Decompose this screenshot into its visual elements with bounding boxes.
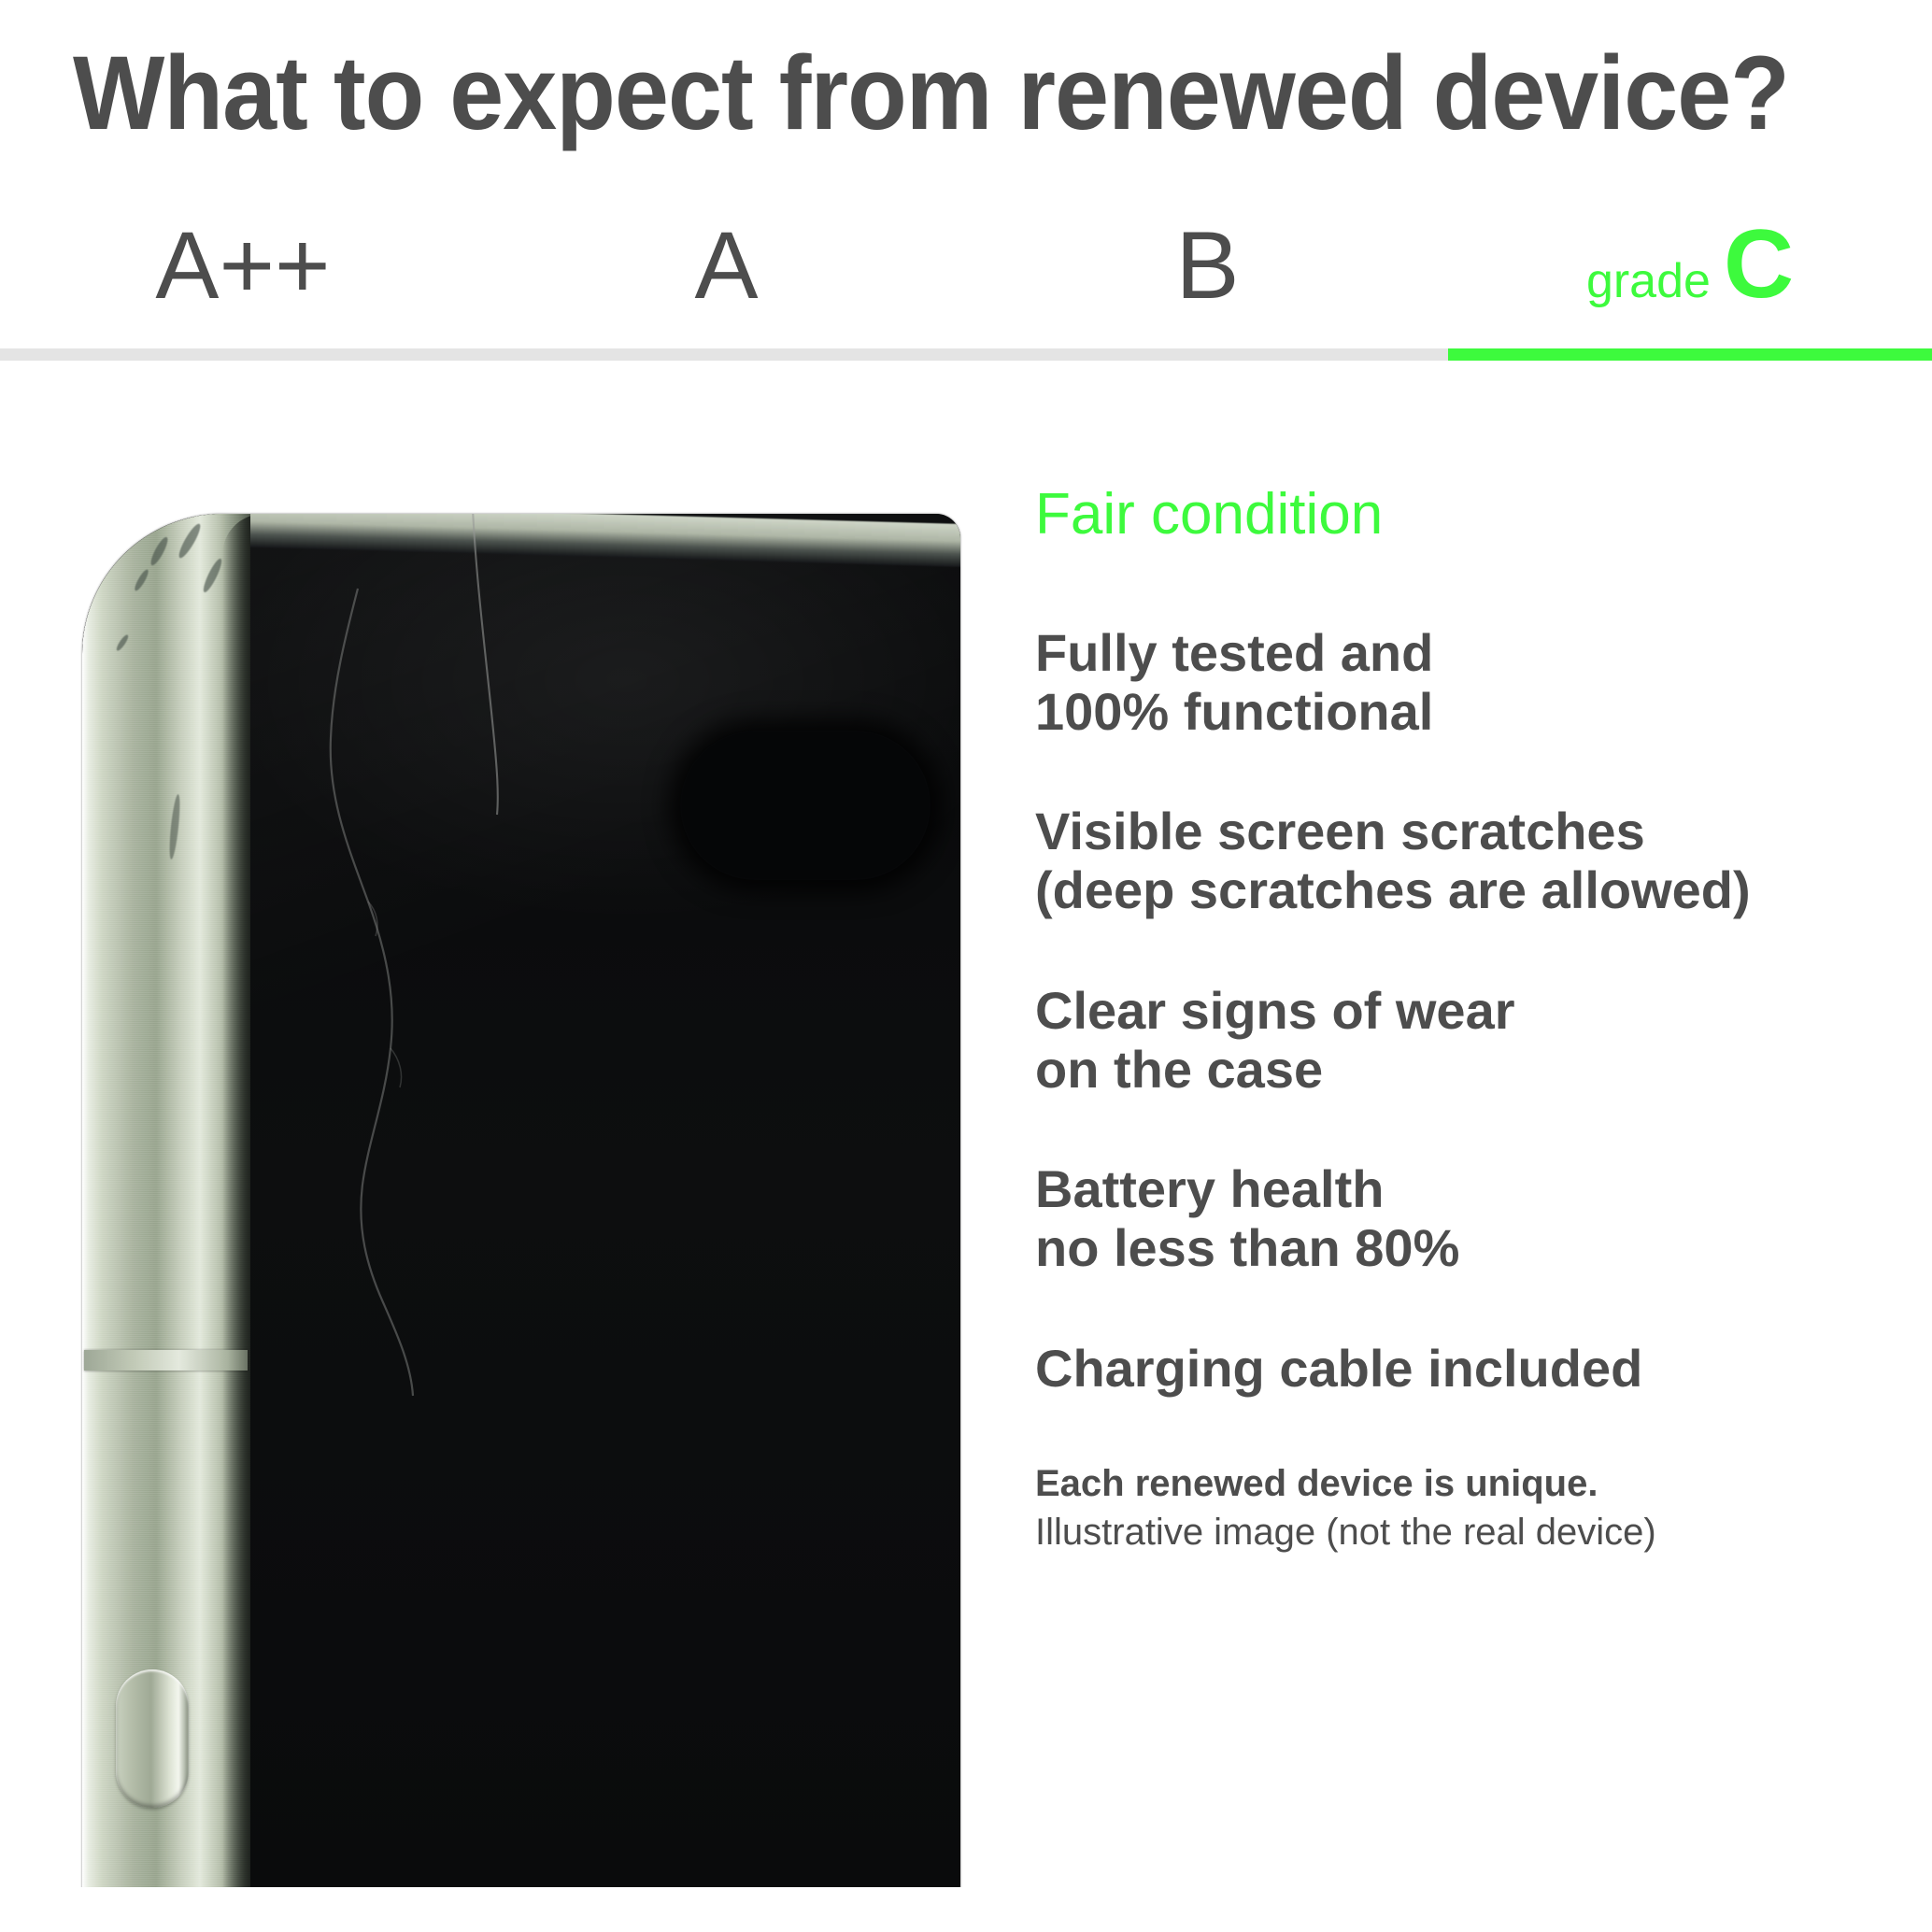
feature-item-case-wear: Clear signs of wear on the case <box>1035 982 1913 1099</box>
tab-grade-b-label: B <box>1175 218 1239 313</box>
feature-item-screen-scratches: Visible screen scratches (deep scratches… <box>1035 803 1913 919</box>
disclaimer-line-2: Illustrative image (not the real device) <box>1035 1508 1913 1556</box>
feature-line: 100% functional <box>1035 683 1913 742</box>
tab-grade-a-plus-plus[interactable]: A++ <box>0 192 486 313</box>
grade-tab-bar: A++ A B grade C <box>0 192 1932 348</box>
feature-line: Visible screen scratches <box>1035 803 1913 861</box>
tab-grade-a[interactable]: A <box>486 192 967 313</box>
disclaimer-line-1: Each renewed device is unique. <box>1035 1459 1913 1508</box>
device-body <box>82 514 960 1887</box>
feature-line: Clear signs of wear <box>1035 982 1913 1041</box>
tab-rail-active-indicator <box>1448 348 1932 361</box>
tab-indicator-rail <box>0 348 1932 361</box>
tab-grade-c-prefix-label: grade <box>1586 257 1711 305</box>
action-button[interactable] <box>116 1669 189 1808</box>
disclaimer: Each renewed device is unique. Illustrat… <box>1035 1459 1913 1556</box>
tab-grade-a-label: A <box>694 218 758 313</box>
condition-status-label: Fair condition <box>1035 486 1913 544</box>
feature-line: Charging cable included <box>1035 1340 1913 1399</box>
feature-item-battery-health: Battery health no less than 80% <box>1035 1160 1913 1277</box>
feature-line: on the case <box>1035 1041 1913 1100</box>
tab-grade-b[interactable]: B <box>967 192 1448 313</box>
feature-line: Fully tested and <box>1035 624 1913 683</box>
tab-grade-c-inner: grade C <box>1448 192 1932 313</box>
tab-grade-c-label: C <box>1724 216 1794 313</box>
feature-line: no less than 80% <box>1035 1219 1913 1278</box>
tab-grade-c[interactable]: grade C <box>1448 192 1932 313</box>
feature-line: Battery health <box>1035 1160 1913 1219</box>
frame-inner-shadow <box>222 514 250 1887</box>
tab-grade-a-plus-plus-label: A++ <box>155 218 330 313</box>
tab-rail-inactive <box>0 348 1448 361</box>
device-side-frame <box>82 514 250 1887</box>
renewed-device-grade-info-card: What to expect from renewed device? A++ … <box>0 0 1932 1932</box>
device-image <box>0 486 990 1887</box>
feature-item-charging-cable: Charging cable included <box>1035 1340 1913 1399</box>
grade-details-panel: Fair condition Fully tested and 100% fun… <box>1035 486 1913 1556</box>
feature-line: (deep scratches are allowed) <box>1035 861 1913 920</box>
feature-item-tested: Fully tested and 100% functional <box>1035 624 1913 741</box>
antenna-band <box>84 1350 248 1371</box>
page-title: What to expect from renewed device? <box>73 36 1789 150</box>
dynamic-island <box>680 731 930 880</box>
